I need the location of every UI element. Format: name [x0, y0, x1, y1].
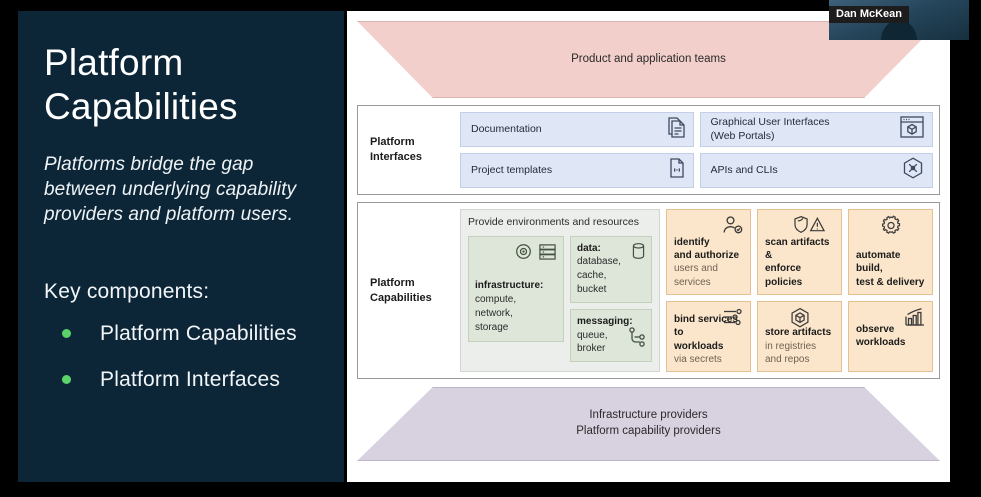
interface-card-label: Graphical User Interfaces (Web Portals) [711, 116, 830, 143]
product-teams-label: Product and application teams [571, 52, 726, 68]
platform-capabilities-body: Provide environments and resources [454, 203, 939, 378]
data-keyword: data: [577, 243, 601, 254]
platform-interfaces-band: Platform Interfaces Documentation [357, 105, 940, 195]
platform-capabilities-label: Platform Capabilities [358, 203, 454, 378]
messaging-keyword: messaging: [577, 316, 633, 327]
database-cylinder-icon [631, 242, 646, 265]
capability-card-automate-build[interactable]: automate build, test & delivery [848, 209, 933, 295]
presenter-silhouette [881, 20, 917, 40]
infrastructure-text: infrastructure: compute, network, storag… [475, 279, 557, 334]
capability-card-light1: in registries [765, 340, 834, 353]
key-components-list: Platform Capabilities Platform Interface… [44, 322, 318, 392]
capability-card-strong2: and authorize [674, 249, 743, 262]
infrastructure-item1: compute, [475, 294, 516, 305]
list-item: Platform Capabilities [44, 322, 318, 346]
platform-capabilities-label-line2: Capabilities [370, 291, 432, 306]
presenter-name-label: Dan McKean [829, 6, 909, 23]
page-subtitle: Platforms bridge the gap between underly… [44, 152, 318, 227]
interface-card-project-templates[interactable]: Project templates [460, 153, 694, 188]
capability-card-text: scan artifacts & enforce policies [765, 236, 834, 289]
capability-card-strong2: workloads [856, 336, 925, 349]
platform-interfaces-label: Platform Interfaces [358, 106, 454, 194]
platform-capabilities-label-line1: Platform [370, 276, 432, 291]
screen: Platform Capabilities Platforms bridge t… [0, 0, 981, 497]
interface-card-graphical-user-interfaces[interactable]: Graphical User Interfaces (Web Portals) [700, 112, 934, 147]
bullet-dot-icon [62, 329, 71, 338]
capability-card-strong1: automate build, [856, 249, 925, 275]
platform-capabilities-band: Platform Capabilities Provide environmen… [357, 202, 940, 379]
data-item2: cache, [577, 270, 606, 281]
capability-card-strong2: workloads [674, 340, 743, 353]
platform-interfaces-label-line1: Platform [370, 135, 422, 150]
page-title: Platform Capabilities [44, 41, 318, 128]
infrastructure-icons [475, 243, 557, 265]
capability-card-data[interactable]: data: database, cache, bucket [570, 236, 652, 303]
left-info-panel: Platform Capabilities Platforms bridge t… [18, 11, 344, 482]
shield-warning-icon [793, 215, 827, 241]
capability-card-identify-and-authorize[interactable]: identify and authorize users and service… [666, 209, 751, 295]
capability-card-scan-artifacts[interactable]: scan artifacts & enforce policies [757, 209, 842, 295]
interface-card-label-line2: (Web Portals) [711, 130, 775, 142]
capability-card-strong2: test & delivery [856, 276, 925, 289]
user-check-icon [722, 215, 744, 240]
capability-card-light2: services [674, 276, 743, 289]
interface-card-apis-and-clis[interactable]: APIs and CLIs [700, 153, 934, 188]
capability-card-text: automate build, test & delivery [856, 249, 925, 289]
package-cube-icon [789, 307, 810, 334]
providers-band: Infrastructure providers Platform capabi… [357, 387, 940, 461]
platform-interfaces-grid: Documentation Graphical User Interfaces … [460, 112, 933, 188]
providers-label: Infrastructure providers Platform capabi… [576, 408, 720, 439]
presenter-webcam-overlay[interactable]: Dan McKean [829, 0, 969, 40]
capability-cards-grid: identify and authorize users and service… [666, 209, 933, 372]
server-rack-icon [538, 243, 557, 265]
data-item3: bucket [577, 284, 606, 295]
platform-interfaces-body: Documentation Graphical User Interfaces … [454, 106, 939, 194]
interface-card-label: APIs and CLIs [711, 164, 778, 178]
capability-card-light2: and repos [765, 353, 834, 366]
providers-label-line1: Infrastructure providers [589, 409, 707, 421]
infrastructure-keyword: infrastructure: [475, 280, 543, 291]
capability-card-bind-services[interactable]: bind services to workloads via secrets [666, 301, 751, 372]
disc-icon [515, 243, 532, 265]
list-item-label: Platform Interfaces [100, 368, 280, 392]
interface-card-documentation[interactable]: Documentation [460, 112, 694, 147]
capability-card-text: identify and authorize users and service… [674, 236, 743, 289]
gear-icon [880, 215, 901, 241]
providers-label-line2: Platform capability providers [576, 425, 720, 437]
messaging-item1: queue, [577, 330, 608, 341]
infrastructure-item2: network, [475, 308, 513, 319]
interface-card-label-line1: Graphical User Interfaces [711, 116, 830, 128]
interface-card-label: Documentation [471, 123, 542, 137]
slide-area: Product and application teams Platform I… [347, 11, 950, 482]
page-title-line2: Capabilities [44, 85, 318, 129]
capability-card-observe-workloads[interactable]: observe workloads [848, 301, 933, 372]
provide-environments-title: Provide environments and resources [468, 216, 652, 230]
code-file-icon [668, 157, 686, 184]
capability-card-light1: users and [674, 262, 743, 275]
list-item-label: Platform Capabilities [100, 322, 297, 346]
bullet-dot-icon [62, 375, 71, 384]
bar-chart-icon [904, 307, 926, 332]
provide-environments-inner: infrastructure: compute, network, storag… [468, 236, 652, 342]
list-item: Platform Interfaces [44, 368, 318, 392]
platform-interfaces-label-line2: Interfaces [370, 150, 422, 165]
provide-environments-box: Provide environments and resources [460, 209, 660, 372]
sliders-icon [722, 307, 744, 332]
capability-card-strong2: enforce policies [765, 262, 834, 288]
data-item1: database, [577, 256, 621, 267]
capability-card-light1: via secrets [674, 353, 743, 366]
documents-icon [666, 116, 686, 143]
capability-card-infrastructure[interactable]: infrastructure: compute, network, storag… [468, 236, 564, 342]
browser-window-cube-icon [899, 115, 925, 144]
hexagon-tools-icon [901, 156, 925, 185]
capability-card-messaging[interactable]: messaging: queue, broker [570, 309, 652, 362]
capability-card-store-artifacts[interactable]: store artifacts in registries and repos [757, 301, 842, 372]
interface-card-label: Project templates [471, 164, 552, 178]
infrastructure-item3: storage [475, 322, 508, 333]
message-broker-icon [628, 326, 646, 353]
messaging-item2: broker [577, 343, 605, 354]
key-components-heading: Key components: [44, 280, 318, 304]
page-title-line1: Platform [44, 41, 318, 85]
data-messaging-column: data: database, cache, bucket [570, 236, 652, 342]
